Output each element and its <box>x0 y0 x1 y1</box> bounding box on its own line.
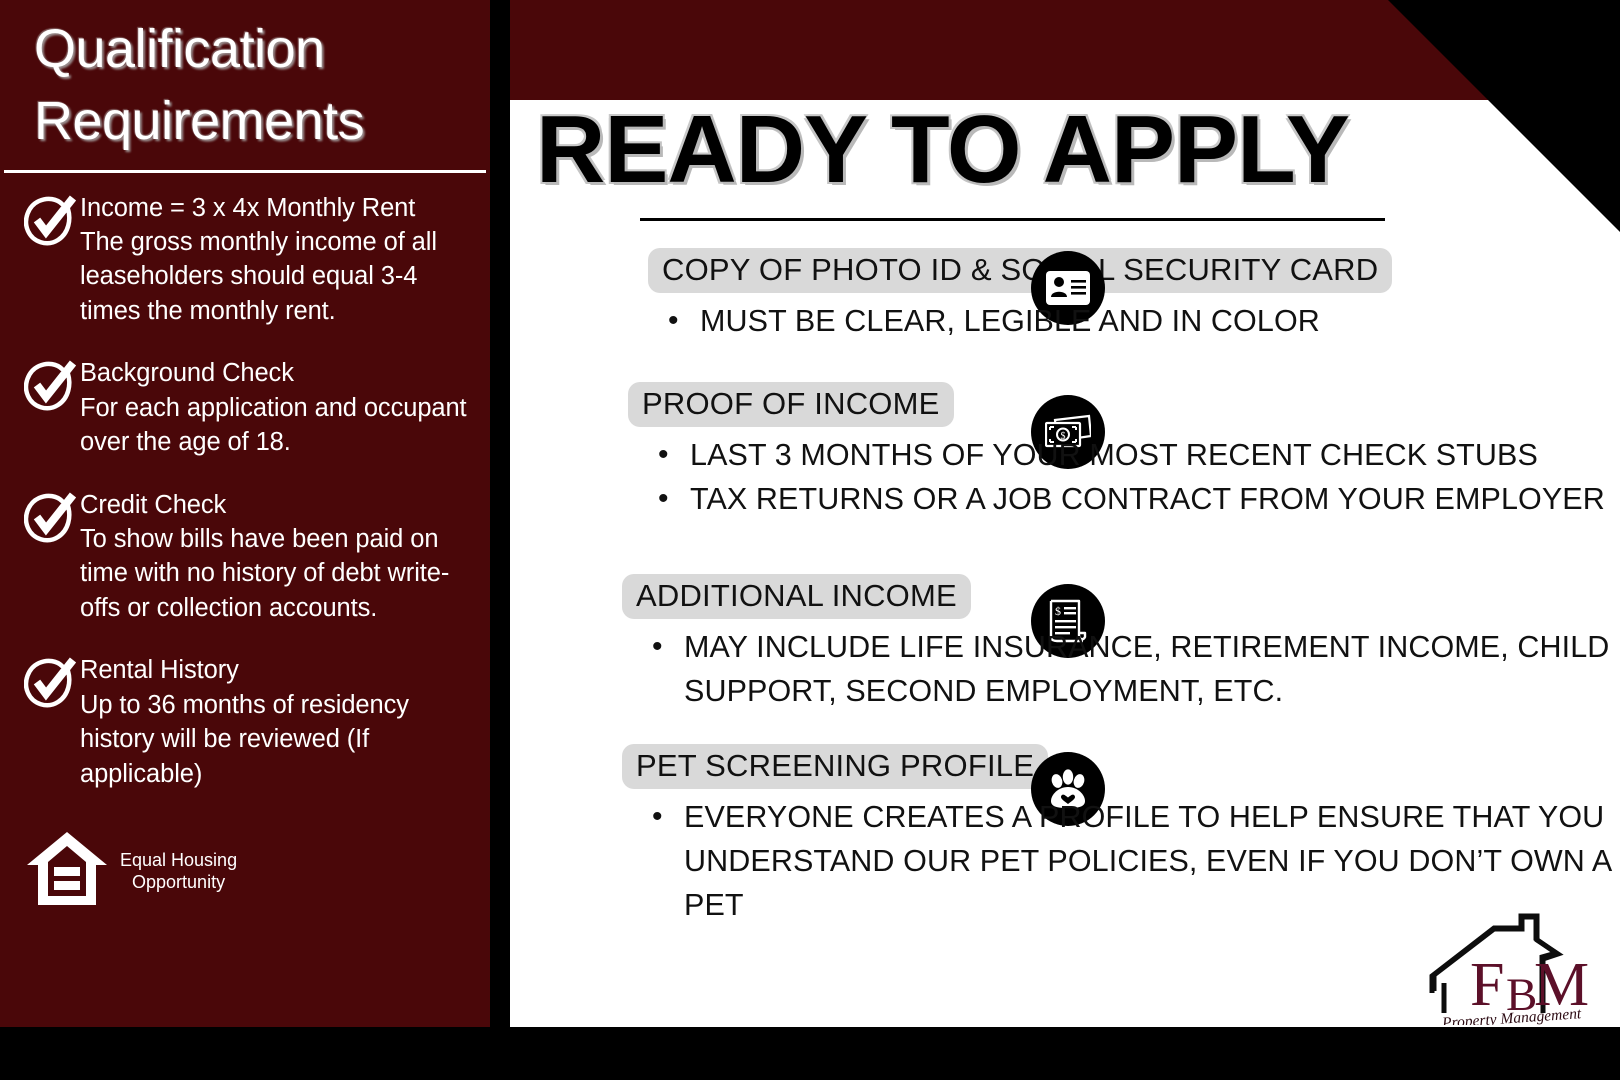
checkmark-circle-icon <box>18 189 80 247</box>
page-title: READY TO APPLY <box>536 100 1546 201</box>
section-bullets: MAY INCLUDE LIFE INSURANCE, RETIREMENT I… <box>622 626 1620 714</box>
logo-letter-f: F <box>1470 951 1504 1019</box>
requirement-text: Credit Check To show bills have been pai… <box>80 486 480 626</box>
bottom-black-bar <box>0 1027 1620 1080</box>
requirement-heading: Rental History <box>80 653 480 687</box>
requirement-body: For each application and occupant over t… <box>80 391 480 460</box>
section-bullets: LAST 3 MONTHS OF YOUR MOST RECENT CHECK … <box>628 434 1620 522</box>
requirement-item-credit-check: Credit Check To show bills have been pai… <box>18 486 480 626</box>
section-bullets: MUST BE CLEAR, LEGIBLE AND IN COLOR <box>638 300 1620 344</box>
requirement-body: Up to 36 months of residency history wil… <box>80 688 480 791</box>
requirement-item-rental-history: Rental History Up to 36 months of reside… <box>18 651 480 791</box>
requirement-heading: Income = 3 x 4x Monthly Rent <box>80 191 480 225</box>
ready-to-apply-panel: READY TO APPLY COPY OF PHOTO ID & SOCIAL… <box>510 0 1620 1027</box>
equal-housing-label: Equal Housing Opportunity <box>120 849 237 894</box>
headline-divider <box>640 218 1385 221</box>
qualification-requirements-sidebar: Qualification Requirements Income = 3 x … <box>0 0 490 1027</box>
requirement-item-background-check: Background Check For each application an… <box>18 354 480 459</box>
requirement-heading: Credit Check <box>80 488 480 522</box>
equal-housing-opportunity-icon <box>24 829 110 914</box>
section-title: PET SCREENING PROFILE <box>622 744 1048 789</box>
requirement-text: Income = 3 x 4x Monthly Rent The gross m… <box>80 189 480 329</box>
svg-text:$: $ <box>1055 604 1061 618</box>
requirement-item-income: Income = 3 x 4x Monthly Rent The gross m… <box>18 189 480 329</box>
section-additional-income: $ ADDITIONAL INCOME MAY INCLUDE LIFE INS… <box>510 574 1620 722</box>
checkmark-circle-icon <box>18 651 80 709</box>
requirement-body: The gross monthly income of all leasehol… <box>80 225 480 328</box>
checkmark-circle-icon <box>18 354 80 412</box>
requirements-list: Income = 3 x 4x Monthly Rent The gross m… <box>0 173 490 791</box>
checkmark-circle-icon <box>18 486 80 544</box>
requirement-text: Rental History Up to 36 months of reside… <box>80 651 480 791</box>
section-title: ADDITIONAL INCOME <box>622 574 971 619</box>
equal-housing-line1: Equal Housing <box>120 850 237 870</box>
requirement-body: To show bills have been paid on time wit… <box>80 522 480 625</box>
bullet-item: TAX RETURNS OR A JOB CONTRACT FROM YOUR … <box>628 478 1620 522</box>
bullet-item: MUST BE CLEAR, LEGIBLE AND IN COLOR <box>638 300 1620 344</box>
equal-housing-block: Equal Housing Opportunity <box>0 817 490 914</box>
section-title: PROOF OF INCOME <box>628 382 954 427</box>
sidebar-title: Qualification Requirements <box>0 0 490 158</box>
equal-housing-line2: Opportunity <box>132 872 225 892</box>
requirements-sections: COPY OF PHOTO ID & SOCIAL SECURITY CARD … <box>510 248 1620 944</box>
bullet-item: LAST 3 MONTHS OF YOUR MOST RECENT CHECK … <box>628 434 1620 478</box>
section-photo-id: COPY OF PHOTO ID & SOCIAL SECURITY CARD … <box>510 248 1620 360</box>
requirement-heading: Background Check <box>80 356 480 390</box>
requirement-text: Background Check For each application an… <box>80 354 480 459</box>
section-bullets: EVERYONE CREATES A PROFILE TO HELP ENSUR… <box>622 796 1620 928</box>
section-title: COPY OF PHOTO ID & SOCIAL SECURITY CARD <box>648 248 1392 293</box>
bullet-item: EVERYONE CREATES A PROFILE TO HELP ENSUR… <box>622 796 1620 928</box>
bullet-item: MAY INCLUDE LIFE INSURANCE, RETIREMENT I… <box>622 626 1620 714</box>
section-proof-of-income: $ PROOF OF INCOME LAST 3 MONTHS OF YOUR … <box>510 382 1620 574</box>
fbm-logo: F B M Property Management <box>1424 913 1602 1025</box>
